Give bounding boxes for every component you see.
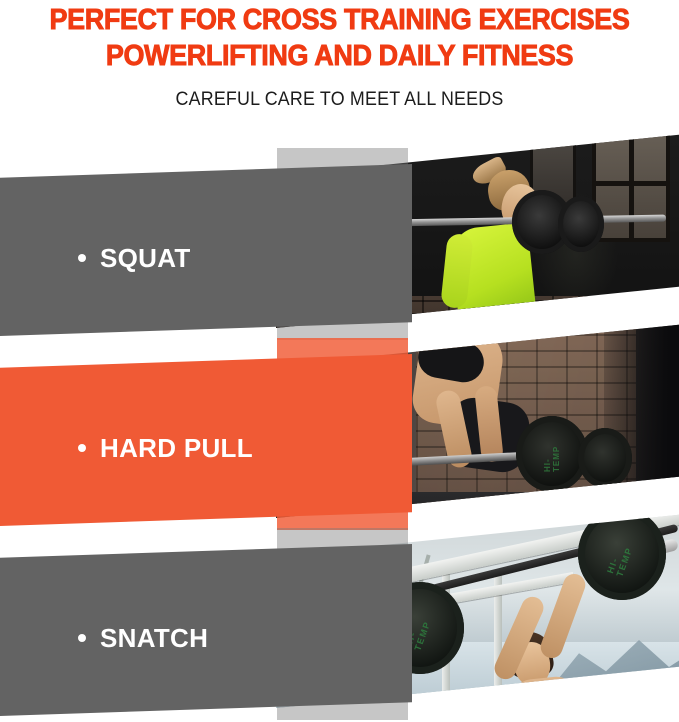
exercise-label-text: SNATCH bbox=[100, 623, 208, 654]
plate-text: HI-TEMP bbox=[605, 530, 639, 578]
bullet-icon bbox=[78, 254, 86, 262]
product-infographic: PERFECT FOR CROSS TRAINING EXERCISES POW… bbox=[0, 0, 679, 722]
label-slab-squat bbox=[0, 164, 412, 336]
exercise-label-hard-pull: HARD PULL bbox=[78, 362, 253, 534]
dark-vignette-shape bbox=[604, 324, 679, 524]
weight-plate-shape bbox=[558, 196, 604, 252]
exercise-bands: SQUAT HI-TEMP bbox=[0, 118, 679, 722]
bullet-icon bbox=[78, 444, 86, 452]
exercise-label-text: SQUAT bbox=[100, 243, 191, 274]
exercise-band-snatch: HI-TEMP HI-TEMP SNATCH bbox=[0, 514, 679, 722]
weight-plate-shape: HI-TEMP bbox=[578, 514, 666, 600]
header-block: PERFECT FOR CROSS TRAINING EXERCISES POW… bbox=[0, 0, 679, 118]
weight-plate-shape bbox=[578, 428, 632, 488]
athlete-hair-shape bbox=[456, 324, 496, 330]
exercise-label-snatch: SNATCH bbox=[78, 552, 208, 722]
plate-text: HI-TEMP bbox=[543, 436, 561, 472]
subtitle: CAREFUL CARE TO MEET ALL NEEDS bbox=[20, 73, 658, 111]
exercise-label-squat: SQUAT bbox=[78, 172, 191, 344]
exercise-band-hard-pull: HI-TEMP HI-TEMP HARD PULL bbox=[0, 324, 679, 534]
bullet-icon bbox=[78, 634, 86, 642]
exercise-label-text: HARD PULL bbox=[100, 433, 253, 464]
exercise-band-squat: SQUAT bbox=[0, 134, 679, 344]
headline-line-1: PERFECT FOR CROSS TRAINING EXERCISES bbox=[24, 0, 655, 37]
headline-line-2: POWERLIFTING AND DAILY FITNESS bbox=[24, 37, 655, 73]
